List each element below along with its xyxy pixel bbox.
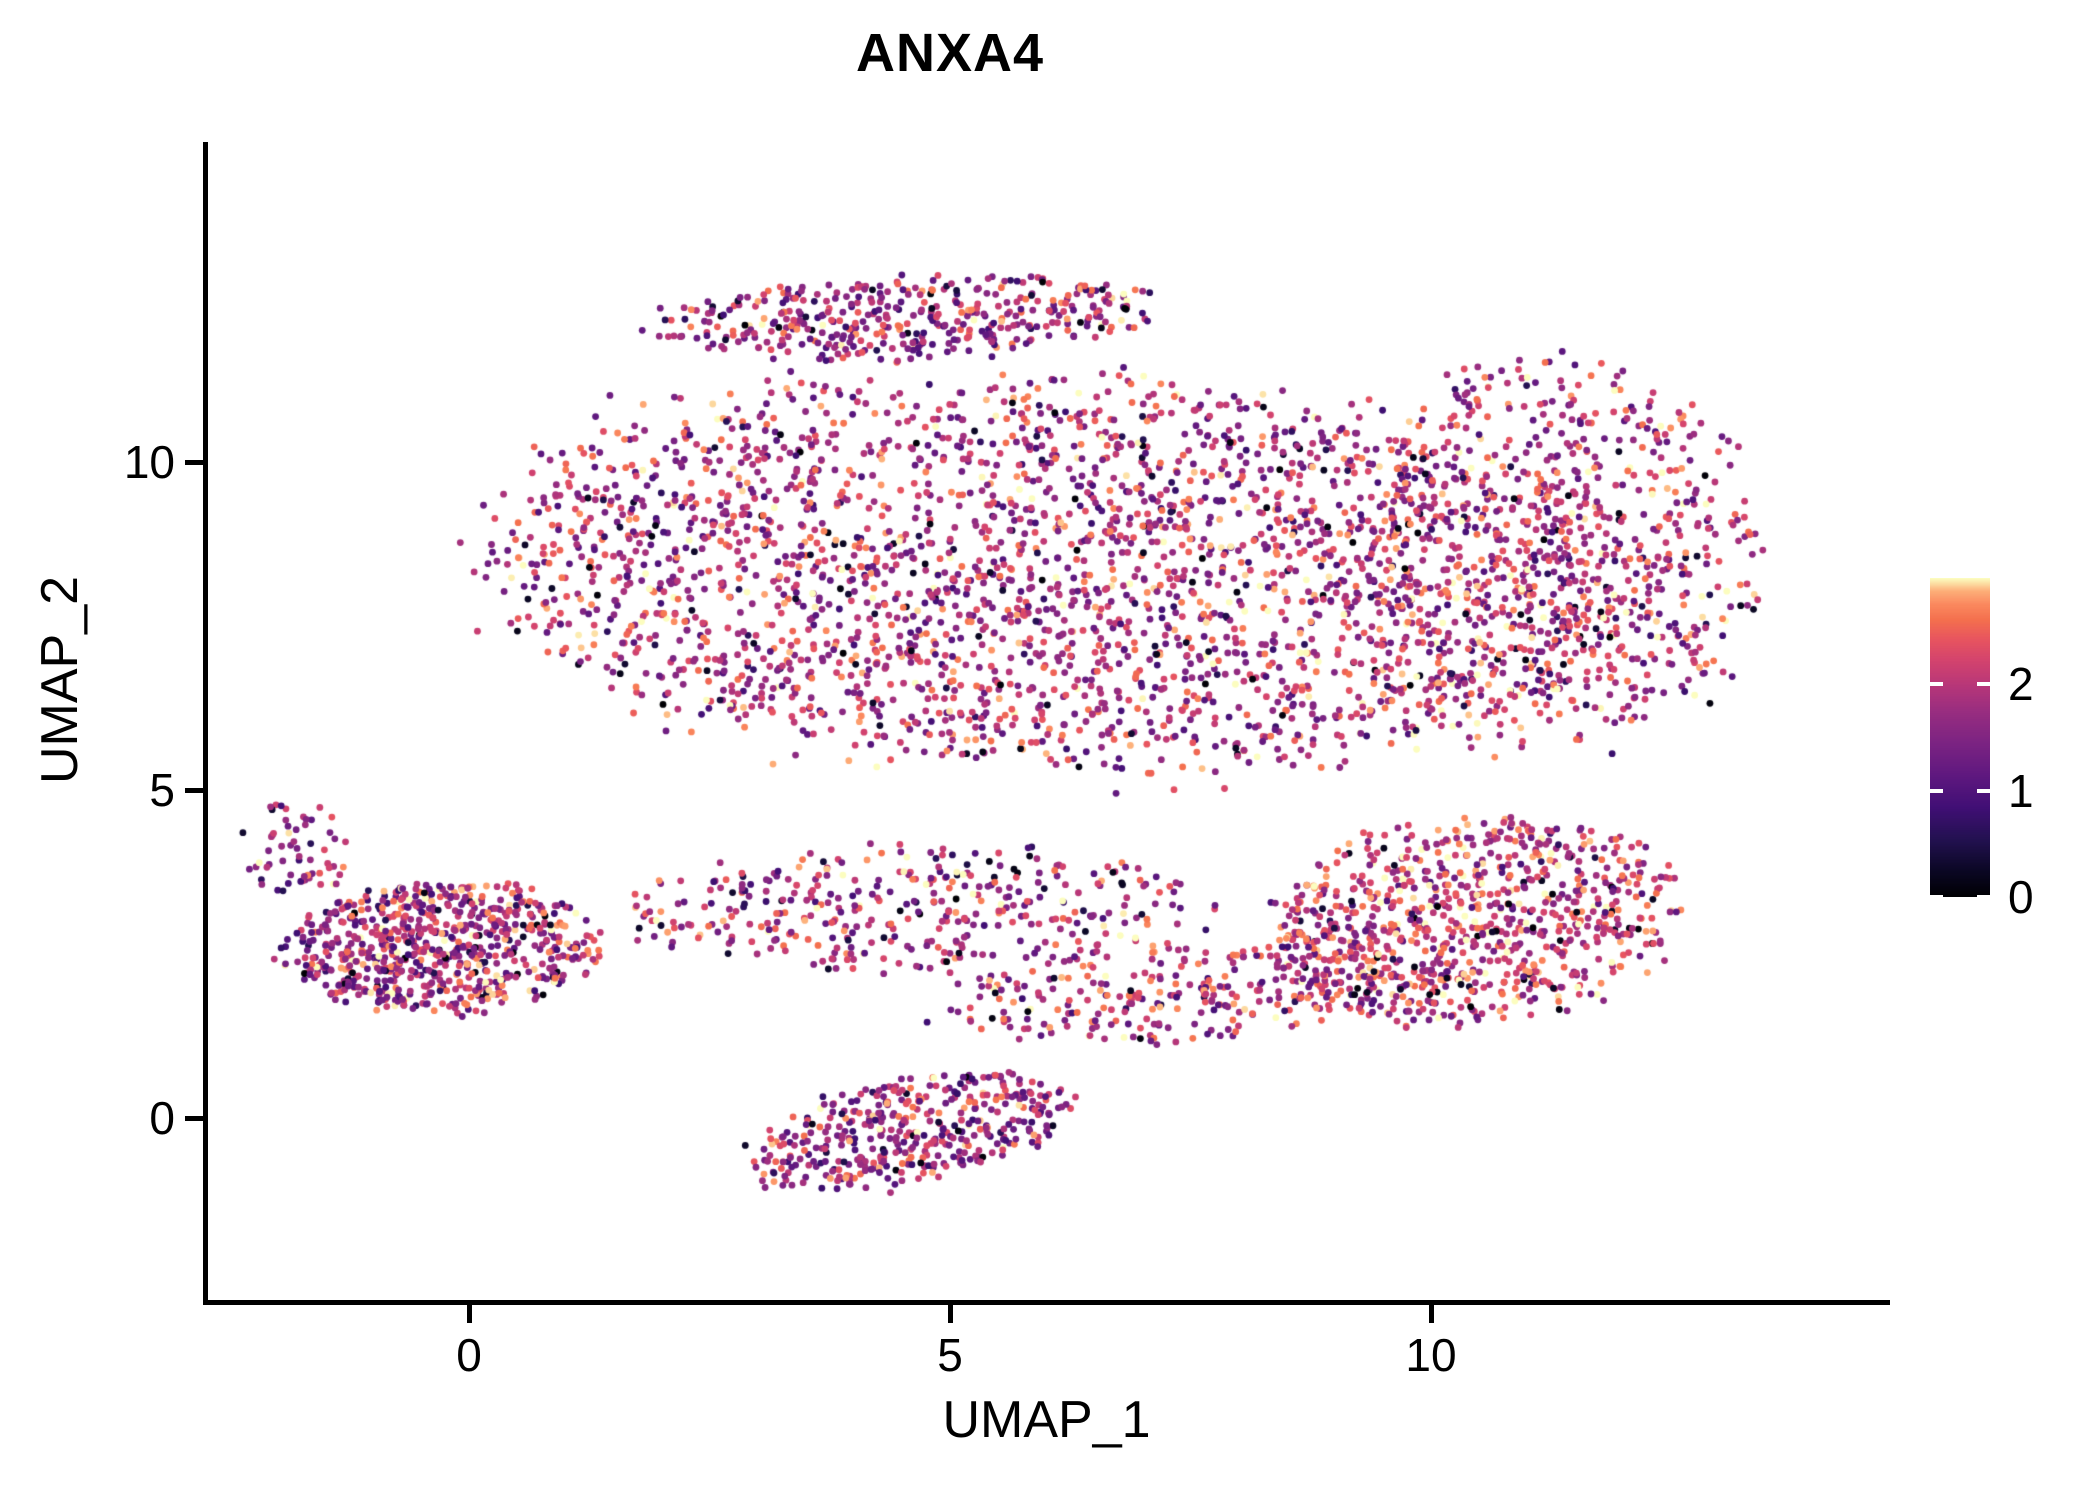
y-tick-mark [185,460,203,465]
y-tick-mark [185,788,203,793]
colorbar-tick-label: 0 [2008,870,2034,924]
x-axis-line [203,1300,1890,1305]
colorbar-tick-mark [1930,789,1943,793]
colorbar-tick-mark [1977,789,1990,793]
y-tick-label: 0 [55,1091,175,1145]
x-tick-mark [1429,1305,1434,1323]
x-tick-label: 0 [389,1328,549,1382]
x-tick-mark [948,1305,953,1323]
colorbar-tick-mark [1930,682,1943,686]
x-tick-label: 10 [1351,1328,1511,1382]
x-axis-title: UMAP_1 [203,1390,1890,1450]
colorbar-tick-mark [1977,682,1990,686]
y-tick-mark [185,1116,203,1121]
x-tick-label: 5 [870,1328,1030,1382]
colorbar-tick-mark [1930,895,1943,899]
y-axis-title: UMAP_2 [30,330,90,1030]
page-title: ANXA4 [0,22,1900,84]
colorbar-legend: 012 [1930,578,2090,898]
x-tick-mark [467,1305,472,1323]
colorbar-tick-label: 1 [2008,764,2034,818]
y-axis-line [203,142,208,1305]
colorbar-tick-mark [1977,895,1990,899]
scatter-plot-canvas [206,142,1890,1302]
chart-page: ANXA4 0510 0510 UMAP_1 UMAP_2 012 [0,0,2100,1500]
colorbar-gradient [1930,578,1990,897]
colorbar-tick-label: 2 [2008,657,2034,711]
